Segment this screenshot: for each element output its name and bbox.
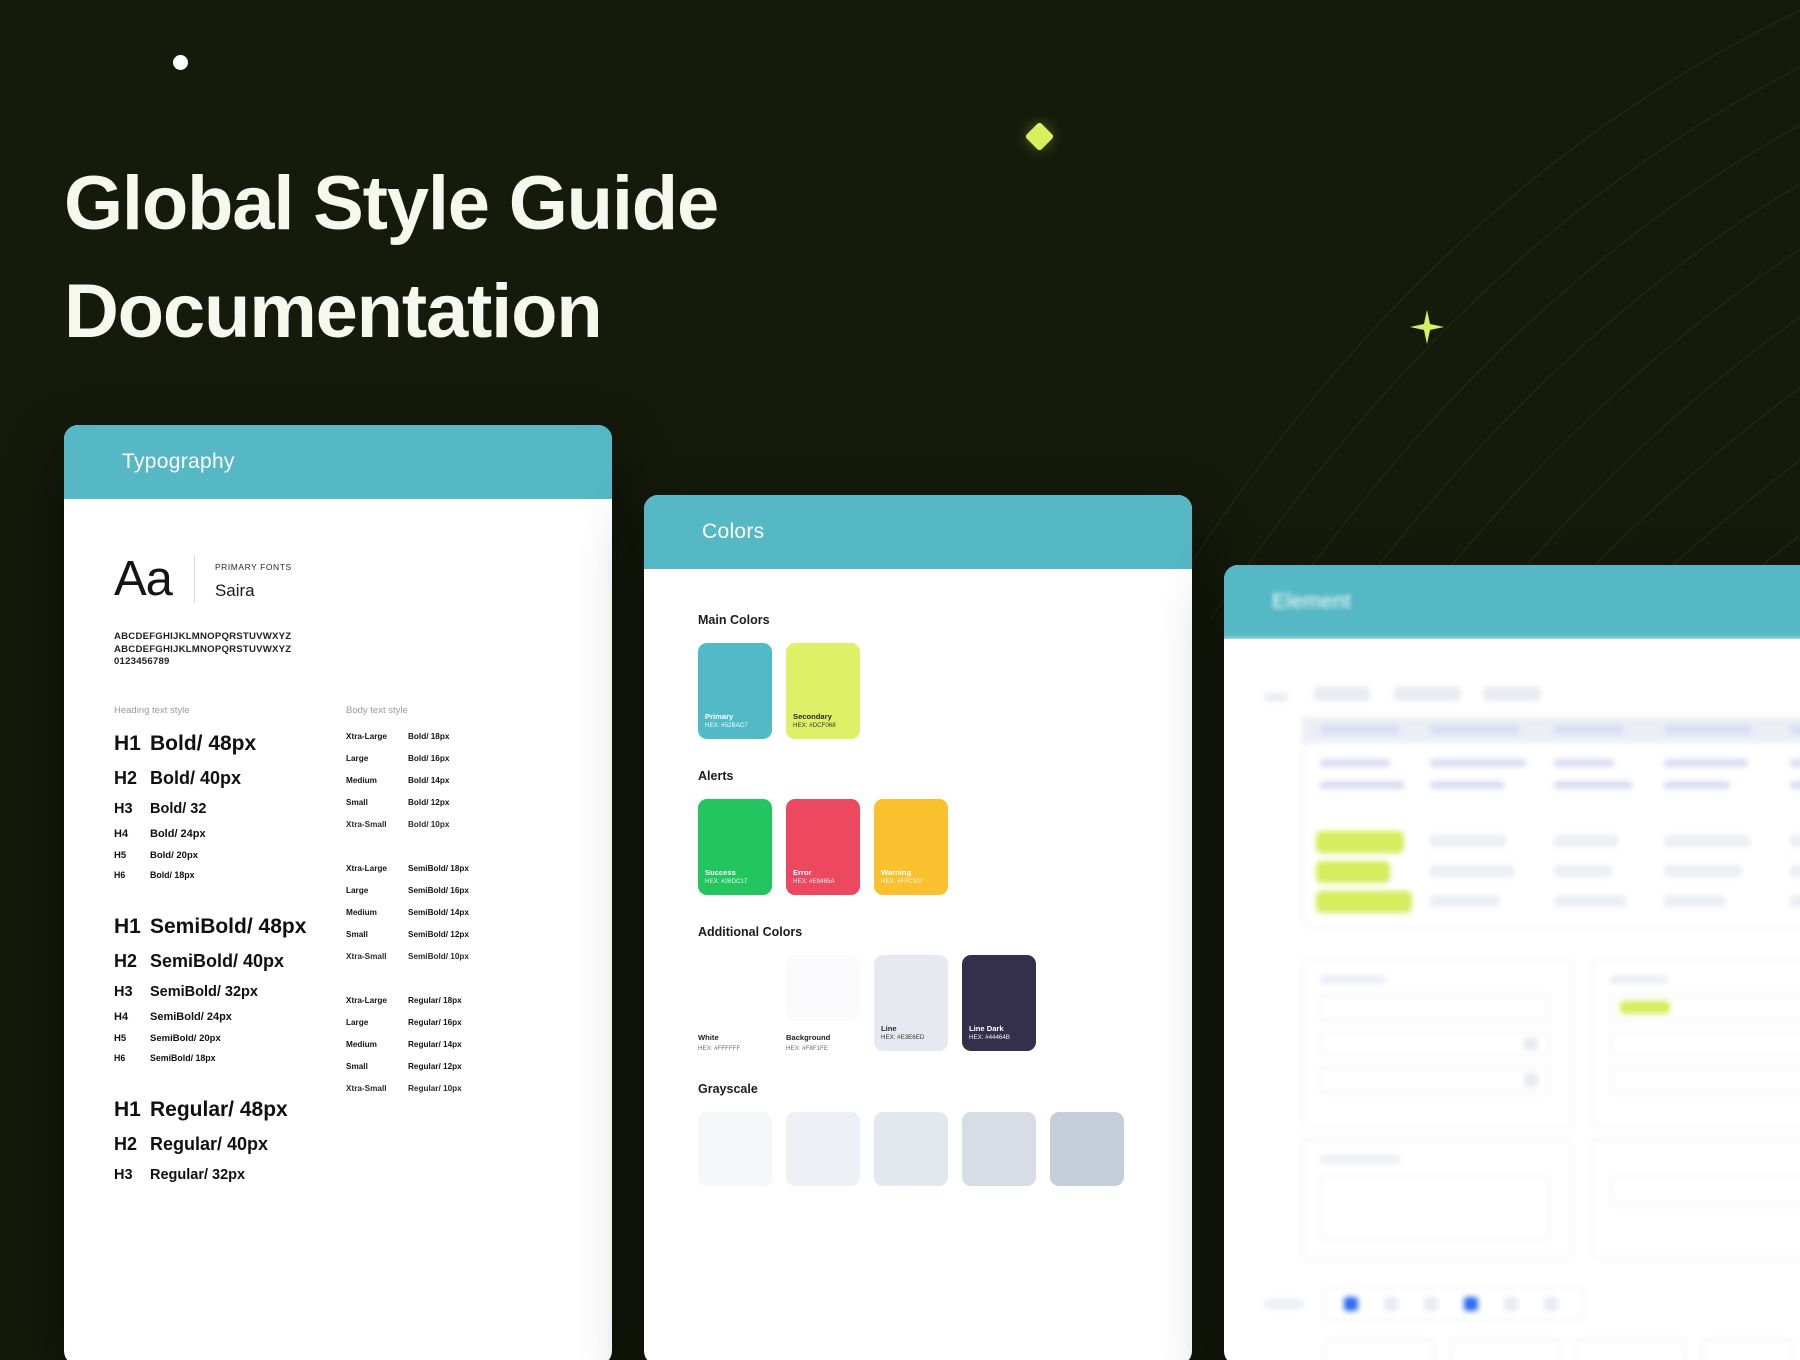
body-tag: Xtra-Small	[346, 820, 408, 829]
body-value: Regular/ 18px	[408, 996, 462, 1005]
body-style-caption: Body text style	[346, 705, 562, 716]
element-card: Element	[1224, 565, 1800, 1360]
heading-tag: H1	[114, 915, 150, 939]
body-tag: Large	[346, 1018, 408, 1027]
body-row: Large SemiBold/ 16px	[346, 886, 562, 895]
swatch-name: White	[698, 1033, 772, 1042]
body-tag: Xtra-Small	[346, 952, 408, 961]
heading-tag: H4	[114, 828, 150, 840]
heading-row: H4 Bold/ 24px	[114, 828, 330, 840]
heading-row: H2 Bold/ 40px	[114, 768, 330, 789]
alerts-title: Alerts	[698, 769, 1138, 783]
heading-row: H1 SemiBold/ 48px	[114, 915, 330, 939]
page-title: Global Style Guide Documentation	[64, 150, 964, 366]
swatch-caption: White HEX: #FFFFFF	[698, 1033, 772, 1052]
swatch-name: Success	[705, 868, 765, 878]
alphabet-line-1: ABCDEFGHIJKLMNOPQRSTUVWXYZ	[114, 631, 562, 644]
typography-card-title: Typography	[122, 450, 235, 474]
spacer	[114, 889, 330, 915]
body-row: Xtra-Large SemiBold/ 18px	[346, 864, 562, 873]
body-tag: Medium	[346, 1040, 408, 1049]
grayscale-chip[interactable]	[786, 1112, 860, 1186]
heading-tag: H5	[114, 850, 150, 861]
body-value: Bold/ 10px	[408, 820, 449, 829]
heading-row: H2 Regular/ 40px	[114, 1134, 330, 1155]
swatch-background[interactable]: Background HEX: #F8F1FE	[786, 955, 860, 1052]
additional-colors-row: White HEX: #FFFFFF Background HEX: #F8F1…	[698, 955, 1138, 1052]
heading-value: Bold/ 32	[150, 801, 206, 817]
swatch-name: Background	[786, 1033, 860, 1042]
typography-card-header: Typography	[64, 425, 612, 499]
body-style-column: Body text style Xtra-Large Bold/ 18px La…	[330, 705, 562, 1194]
spacer	[346, 974, 562, 996]
heading-value: Bold/ 20px	[150, 850, 198, 861]
heading-value: SemiBold/ 32px	[150, 984, 258, 1000]
heading-tag: H3	[114, 984, 150, 1000]
swatch-hex: HEX: #26DC17	[705, 878, 765, 887]
heading-tag: H6	[114, 1053, 150, 1063]
swatch-name: Line	[881, 1024, 941, 1034]
swatch-hex: HEX: #44464B	[969, 1034, 1029, 1043]
heading-value: Regular/ 40px	[150, 1134, 268, 1155]
heading-tag: H5	[114, 1033, 150, 1044]
element-card-body	[1224, 639, 1800, 1360]
body-value: Bold/ 18px	[408, 732, 449, 741]
element-card-header: Element	[1224, 565, 1800, 639]
heading-row: H3 Bold/ 32	[114, 801, 330, 817]
swatch-hex: HEX: #F8F1FE	[786, 1045, 860, 1052]
grayscale-title: Grayscale	[698, 1082, 1138, 1096]
heading-tag: H4	[114, 1011, 150, 1023]
body-tag: Large	[346, 754, 408, 763]
body-row: Medium SemiBold/ 14px	[346, 908, 562, 917]
page-title-line-2: Documentation	[64, 258, 964, 366]
font-meta: PRIMARY FONTS Saira	[215, 562, 292, 603]
body-value: SemiBold/ 10px	[408, 952, 469, 961]
grayscale-chip[interactable]	[962, 1112, 1036, 1186]
heading-row: H4 SemiBold/ 24px	[114, 1011, 330, 1023]
swatch-caption: Background HEX: #F8F1FE	[786, 1033, 860, 1052]
swatch-white[interactable]: White HEX: #FFFFFF	[698, 955, 772, 1052]
divider	[194, 555, 195, 603]
body-row: Small Bold/ 12px	[346, 798, 562, 807]
heading-row: H1 Bold/ 48px	[114, 732, 330, 756]
heading-tag: H3	[114, 1167, 150, 1183]
primary-font-block: Aa PRIMARY FONTS Saira	[114, 555, 562, 603]
heading-value: Bold/ 40px	[150, 768, 241, 789]
font-meta-label: PRIMARY FONTS	[215, 562, 292, 572]
swatch-chip	[698, 955, 772, 1021]
heading-row: H3 SemiBold/ 32px	[114, 984, 330, 1000]
heading-tag: H3	[114, 801, 150, 817]
spacer	[346, 842, 562, 864]
swatch-name: Line Dark	[969, 1024, 1029, 1034]
body-value: SemiBold/ 18px	[408, 864, 469, 873]
body-value: Regular/ 10px	[408, 1084, 462, 1093]
body-value: Bold/ 16px	[408, 754, 449, 763]
body-tag: Xtra-Small	[346, 1084, 408, 1093]
alphabet-specimen: ABCDEFGHIJKLMNOPQRSTUVWXYZ ABCDEFGHIJKLM…	[114, 631, 562, 669]
swatch-name: Primary	[705, 712, 765, 722]
heading-row: H6 SemiBold/ 18px	[114, 1053, 330, 1063]
body-tag: Xtra-Large	[346, 864, 408, 873]
swatch-error[interactable]: Error HEX: #E9465A	[786, 799, 860, 895]
grayscale-row	[698, 1112, 1138, 1186]
heading-value: Bold/ 24px	[150, 828, 206, 840]
typography-card-body: Aa PRIMARY FONTS Saira ABCDEFGHIJKLMNOPQ…	[64, 499, 612, 1194]
body-tag: Small	[346, 798, 408, 807]
body-tag: Medium	[346, 908, 408, 917]
heading-value: Regular/ 32px	[150, 1167, 245, 1183]
swatch-success[interactable]: Success HEX: #26DC17	[698, 799, 772, 895]
body-row: Large Bold/ 16px	[346, 754, 562, 763]
colors-card: Colors Main Colors Primary HEX: #52BAC7 …	[644, 495, 1192, 1360]
body-value: Regular/ 12px	[408, 1062, 462, 1071]
heading-value: Bold/ 48px	[150, 732, 256, 756]
alerts-row: Success HEX: #26DC17 Error HEX: #E9465A …	[698, 799, 1138, 895]
grayscale-chip[interactable]	[874, 1112, 948, 1186]
heading-tag: H1	[114, 1098, 150, 1122]
body-row: Xtra-Large Bold/ 18px	[346, 732, 562, 741]
swatch-hex: HEX: #FFFFFF	[698, 1045, 772, 1052]
swatch-secondary[interactable]: Secondary HEX: #DCF068	[786, 643, 860, 739]
heading-value: SemiBold/ 20px	[150, 1033, 221, 1044]
body-value: Regular/ 14px	[408, 1040, 462, 1049]
heading-style-caption: Heading text style	[114, 705, 330, 716]
body-tag: Small	[346, 1062, 408, 1071]
font-sample-aa: Aa	[114, 555, 194, 603]
heading-style-column: Heading text style H1 Bold/ 48px H2 Bold…	[114, 705, 330, 1194]
grayscale-chip[interactable]	[1050, 1112, 1124, 1186]
body-row: Medium Regular/ 14px	[346, 1040, 562, 1049]
heading-tag: H2	[114, 768, 150, 789]
body-value: Bold/ 12px	[408, 798, 449, 807]
heading-row: H1 Regular/ 48px	[114, 1098, 330, 1122]
grayscale-chip[interactable]	[698, 1112, 772, 1186]
swatch-primary[interactable]: Primary HEX: #52BAC7	[698, 643, 772, 739]
swatch-name: Secondary	[793, 712, 853, 722]
body-tag: Xtra-Large	[346, 996, 408, 1005]
page-title-line-1: Global Style Guide	[64, 150, 964, 258]
swatch-chip	[786, 955, 860, 1021]
sparkle-icon	[1408, 308, 1446, 346]
element-card-title: Element	[1272, 590, 1351, 614]
heading-value: SemiBold/ 24px	[150, 1011, 232, 1023]
body-row: Xtra-Small Bold/ 10px	[346, 820, 562, 829]
decorative-dot	[173, 55, 188, 70]
body-row: Large Regular/ 16px	[346, 1018, 562, 1027]
body-tag: Small	[346, 930, 408, 939]
swatch-name: Error	[793, 868, 853, 878]
font-meta-name: Saira	[215, 581, 292, 601]
body-row: Xtra-Large Regular/ 18px	[346, 996, 562, 1005]
body-tag: Medium	[346, 776, 408, 785]
swatch-warning[interactable]: Warning HEX: #FFC107	[874, 799, 948, 895]
heading-row: H3 Regular/ 32px	[114, 1167, 330, 1183]
heading-tag: H6	[114, 870, 150, 880]
swatch-hex: HEX: #DCF068	[793, 722, 853, 731]
heading-value: Regular/ 48px	[150, 1098, 288, 1122]
body-row: Medium Bold/ 14px	[346, 776, 562, 785]
heading-row: H5 Bold/ 20px	[114, 850, 330, 861]
decorative-diamond-icon	[1025, 122, 1055, 152]
heading-value: Bold/ 18px	[150, 870, 194, 880]
heading-tag: H1	[114, 732, 150, 756]
alphabet-line-2: ABCDEFGHIJKLMNOPQRSTUVWXYZ	[114, 644, 562, 657]
typography-card: Typography Aa PRIMARY FONTS Saira ABCDEF…	[64, 425, 612, 1360]
body-row: Small Regular/ 12px	[346, 1062, 562, 1071]
swatch-hex: HEX: #FFC107	[881, 878, 941, 887]
additional-colors-title: Additional Colors	[698, 925, 1138, 939]
swatch-hex: HEX: #E3E6ED	[881, 1034, 941, 1043]
heading-value: SemiBold/ 48px	[150, 915, 306, 939]
swatch-line-dark[interactable]: Line Dark HEX: #44464B	[962, 955, 1036, 1051]
heading-row: H2 SemiBold/ 40px	[114, 951, 330, 972]
swatch-line[interactable]: Line HEX: #E3E6ED	[874, 955, 948, 1051]
colors-card-header: Colors	[644, 495, 1192, 569]
swatch-name: Warning	[881, 868, 941, 878]
body-tag: Large	[346, 886, 408, 895]
body-value: SemiBold/ 16px	[408, 886, 469, 895]
heading-tag: H2	[114, 951, 150, 972]
alphabet-numerals: 0123456789	[114, 656, 562, 669]
body-value: SemiBold/ 14px	[408, 908, 469, 917]
body-row: Xtra-Small SemiBold/ 10px	[346, 952, 562, 961]
swatch-hex: HEX: #E9465A	[793, 878, 853, 887]
colors-card-title: Colors	[702, 520, 764, 544]
swatch-hex: HEX: #52BAC7	[705, 722, 765, 731]
type-scale-columns: Heading text style H1 Bold/ 48px H2 Bold…	[114, 705, 562, 1194]
body-row: Xtra-Small Regular/ 10px	[346, 1084, 562, 1093]
main-colors-row: Primary HEX: #52BAC7 Secondary HEX: #DCF…	[698, 643, 1138, 739]
heading-value: SemiBold/ 40px	[150, 951, 284, 972]
heading-row: H5 SemiBold/ 20px	[114, 1033, 330, 1044]
body-value: Bold/ 14px	[408, 776, 449, 785]
main-colors-title: Main Colors	[698, 613, 1138, 627]
heading-row: H6 Bold/ 18px	[114, 870, 330, 880]
heading-value: SemiBold/ 18px	[150, 1053, 216, 1063]
spacer	[114, 1072, 330, 1098]
style-guide-canvas: Global Style Guide Documentation Typogra…	[0, 0, 1800, 1360]
body-tag: Xtra-Large	[346, 732, 408, 741]
body-value: Regular/ 16px	[408, 1018, 462, 1027]
body-row: Small SemiBold/ 12px	[346, 930, 562, 939]
body-value: SemiBold/ 12px	[408, 930, 469, 939]
heading-tag: H2	[114, 1134, 150, 1155]
colors-card-body: Main Colors Primary HEX: #52BAC7 Seconda…	[644, 569, 1192, 1186]
